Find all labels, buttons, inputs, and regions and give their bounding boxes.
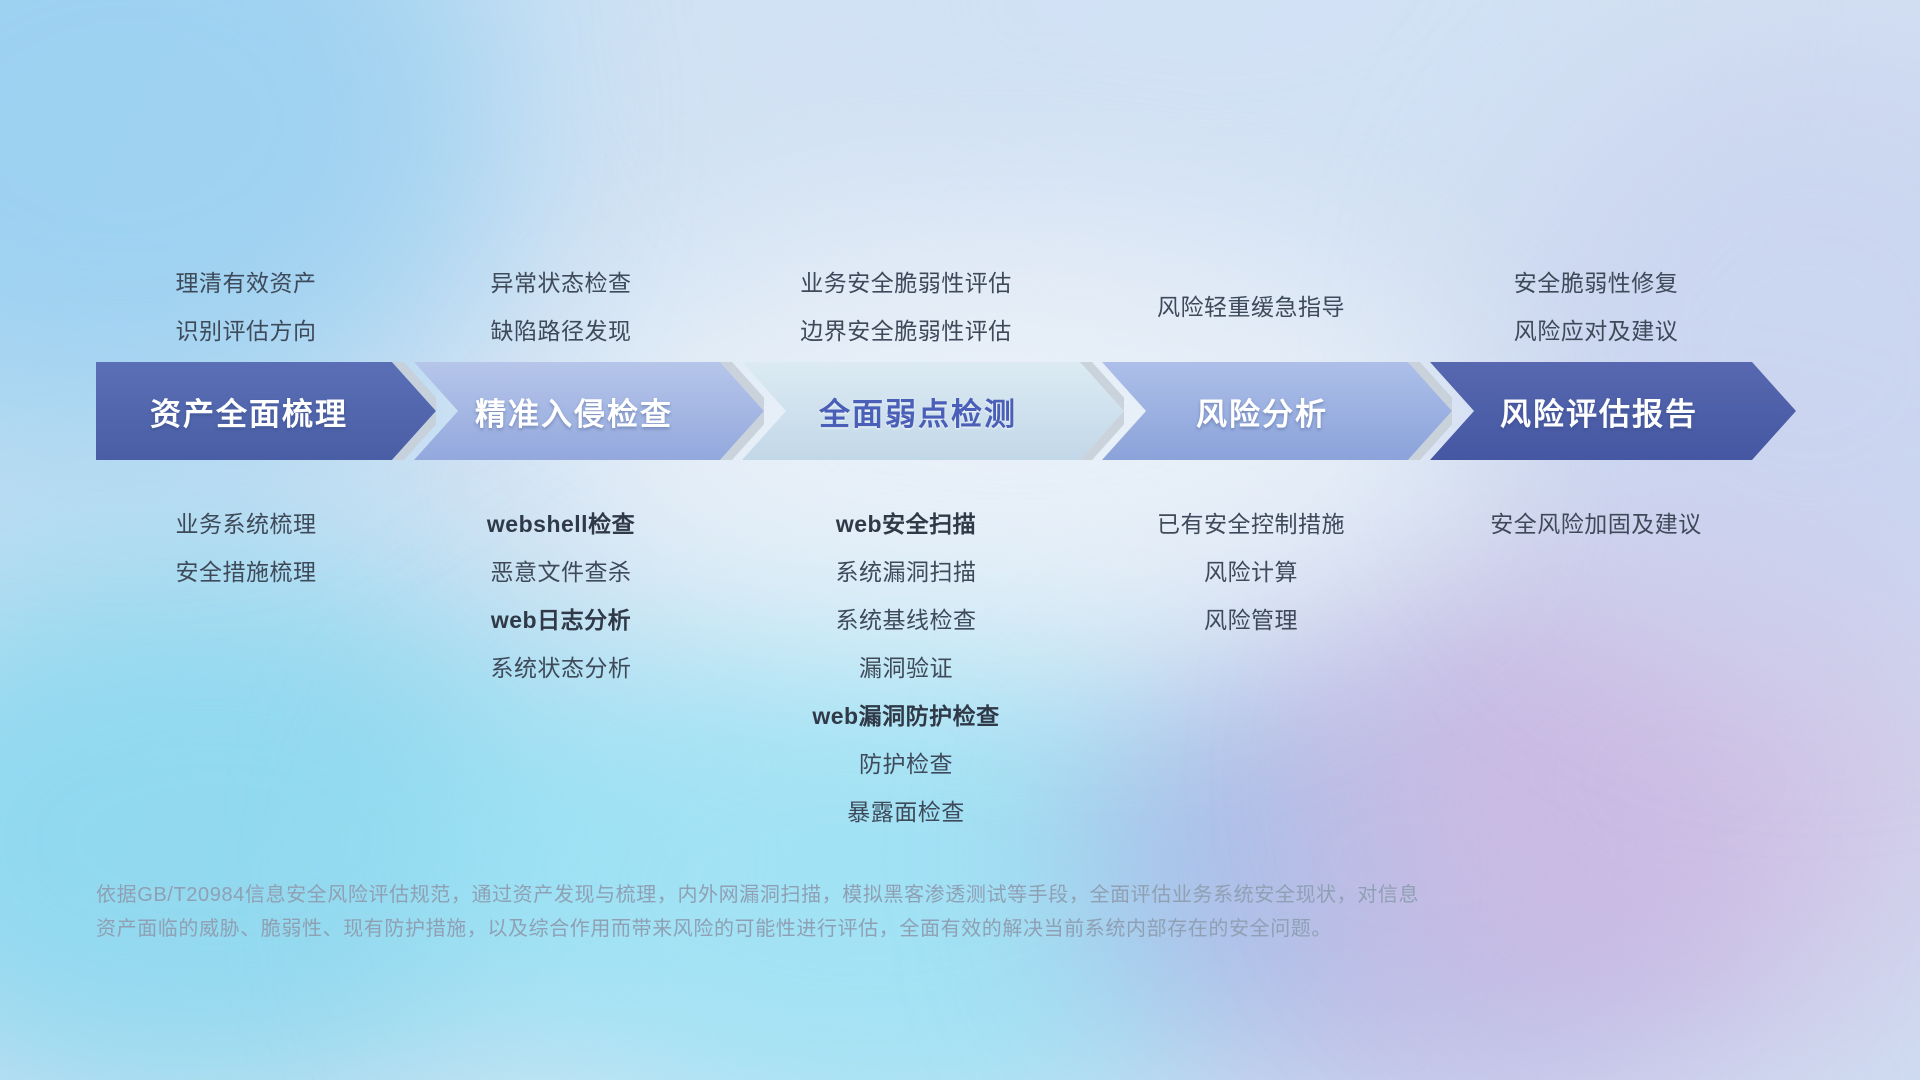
note-item: 风险管理 [1086, 596, 1416, 644]
note-item: 安全措施梳理 [96, 548, 396, 596]
stage-3-bottom-notes: web安全扫描 系统漏洞扫描 系统基线检查 漏洞验证 web漏洞防护检查 防护检… [726, 500, 1086, 836]
stage-2-top-notes: 异常状态检查 缺陷路径发现 [396, 215, 726, 355]
note-item: 系统漏洞扫描 [726, 548, 1086, 596]
chevron-stage-2[interactable]: 精准入侵检查 [414, 362, 764, 460]
chevron-label: 精准入侵检查 [475, 389, 673, 434]
footer-description: 依据GB/T20984信息安全风险评估规范，通过资产发现与梳理，内外网漏洞扫描，… [96, 878, 1626, 946]
note-list: 异常状态检查 缺陷路径发现 [396, 259, 726, 355]
note-item: 边界安全脆弱性评估 [726, 307, 1086, 355]
chevron-stage-4[interactable]: 风险分析 [1102, 362, 1452, 460]
stage-1-top-notes: 理清有效资产 识别评估方向 [96, 215, 396, 355]
stage-4-top-notes: 风险轻重缓急指导 [1086, 215, 1416, 355]
note-item: webshell检查 [396, 500, 726, 548]
note-list: 业务安全脆弱性评估 边界安全脆弱性评估 [726, 259, 1086, 355]
note-item: 恶意文件查杀 [396, 548, 726, 596]
note-item: 风险应对及建议 [1416, 307, 1776, 355]
note-item: 漏洞验证 [726, 644, 1086, 692]
note-list: 安全风险加固及建议 [1416, 500, 1776, 548]
note-item: web安全扫描 [726, 500, 1086, 548]
note-item: 防护检查 [726, 740, 1086, 788]
note-item: 风险轻重缓急指导 [1086, 259, 1416, 355]
note-list: 风险轻重缓急指导 [1086, 259, 1416, 355]
stage-5-bottom-notes: 安全风险加固及建议 [1416, 500, 1776, 548]
note-item: 理清有效资产 [96, 259, 396, 307]
stage-4-bottom-notes: 已有安全控制措施 风险计算 风险管理 [1086, 500, 1416, 644]
note-item: 风险计算 [1086, 548, 1416, 596]
chevron-label: 资产全面梳理 [150, 389, 348, 434]
note-list: web安全扫描 系统漏洞扫描 系统基线检查 漏洞验证 web漏洞防护检查 防护检… [726, 500, 1086, 836]
stage-5-top-notes: 安全脆弱性修复 风险应对及建议 [1416, 215, 1776, 355]
chevron-label: 全面弱点检测 [819, 389, 1017, 434]
chevron-label: 风险评估报告 [1500, 389, 1698, 434]
note-item: 暴露面检查 [726, 788, 1086, 836]
diagram-stage: 理清有效资产 识别评估方向 业务系统梳理 安全措施梳理 异常状态检查 缺陷路 [0, 0, 1920, 1080]
note-item: 安全风险加固及建议 [1416, 500, 1776, 548]
stage-2-bottom-notes: webshell检查 恶意文件查杀 web日志分析 系统状态分析 [396, 500, 726, 692]
process-chevron-band: 资产全面梳理 精准入侵检查 [96, 362, 1796, 460]
note-list: 安全脆弱性修复 风险应对及建议 [1416, 259, 1776, 355]
note-item: 缺陷路径发现 [396, 307, 726, 355]
note-item: web漏洞防护检查 [726, 692, 1086, 740]
chevron-stage-3[interactable]: 全面弱点检测 [742, 362, 1124, 460]
note-item: web日志分析 [396, 596, 726, 644]
note-list: 业务系统梳理 安全措施梳理 [96, 500, 396, 596]
chevron-stage-1[interactable]: 资产全面梳理 [96, 362, 436, 460]
note-item: 异常状态检查 [396, 259, 726, 307]
stage-3-top-notes: 业务安全脆弱性评估 边界安全脆弱性评估 [726, 215, 1086, 355]
note-item: 系统基线检查 [726, 596, 1086, 644]
diagram-content: 理清有效资产 识别评估方向 业务系统梳理 安全措施梳理 异常状态检查 缺陷路 [96, 0, 1824, 1080]
note-list: webshell检查 恶意文件查杀 web日志分析 系统状态分析 [396, 500, 726, 692]
note-item: 业务系统梳理 [96, 500, 396, 548]
note-item: 已有安全控制措施 [1086, 500, 1416, 548]
note-list: 已有安全控制措施 风险计算 风险管理 [1086, 500, 1416, 644]
note-item: 业务安全脆弱性评估 [726, 259, 1086, 307]
note-item: 识别评估方向 [96, 307, 396, 355]
stage-1-bottom-notes: 业务系统梳理 安全措施梳理 [96, 500, 396, 596]
footer-line-1: 依据GB/T20984信息安全风险评估规范，通过资产发现与梳理，内外网漏洞扫描，… [96, 878, 1626, 912]
footer-line-2: 资产面临的威胁、脆弱性、现有防护措施，以及综合作用而带来风险的可能性进行评估，全… [96, 912, 1626, 946]
note-item: 安全脆弱性修复 [1416, 259, 1776, 307]
chevron-stage-5[interactable]: 风险评估报告 [1430, 362, 1796, 460]
chevron-label: 风险分析 [1196, 389, 1328, 434]
note-list: 理清有效资产 识别评估方向 [96, 259, 396, 355]
note-item: 系统状态分析 [396, 644, 726, 692]
